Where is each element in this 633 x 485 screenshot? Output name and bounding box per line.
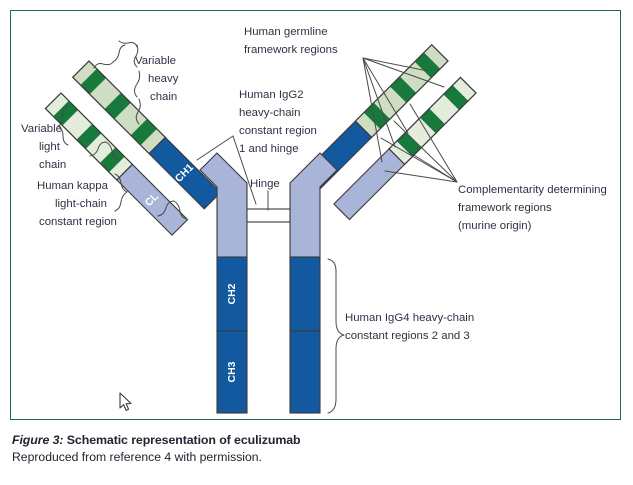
right-ch2-region: [290, 257, 320, 331]
label-variable-heavy-chain: Variable heavy chain: [135, 55, 182, 103]
figure-title: Schematic representation of eculizumab: [63, 433, 300, 447]
right-stem-constant: [290, 257, 320, 413]
brace-variable-heavy-chain-mid: [113, 45, 125, 62]
label-variable-light-chain: Variable light chain: [21, 123, 66, 171]
label-human-germline: Human germline framework regions: [244, 26, 338, 56]
left-stem-constant: CH2 CH3: [217, 257, 247, 413]
caption-title-line: Figure 3: Schematic representation of ec…: [12, 432, 612, 448]
label-human-igg4: Human IgG4 heavy-chain constant regions …: [345, 312, 477, 342]
right-ch3-region: [290, 331, 320, 413]
label-human-igg2: Human IgG2 heavy-chain constant region 1…: [239, 89, 320, 155]
label-human-kappa: Human kappa light-chain constant region: [37, 180, 117, 228]
caption-credit-line: Reproduced from reference 4 with permiss…: [12, 449, 612, 465]
label-cdr: Complementarity determining framework re…: [458, 184, 610, 232]
label-hinge: Hinge: [250, 178, 280, 190]
figure-number: Figure 3:: [12, 433, 63, 447]
antibody-schematic-diagram: CH1 CL: [11, 11, 622, 421]
hinge-connector: [247, 209, 290, 222]
brace-igg4: [328, 259, 344, 413]
figure-frame: CH1 CL: [10, 10, 621, 420]
figure-caption: Figure 3: Schematic representation of ec…: [12, 432, 612, 465]
right-stem-upper: [290, 153, 337, 257]
segment-label-ch2: CH2: [226, 283, 238, 304]
segment-label-ch3: CH3: [226, 361, 238, 382]
